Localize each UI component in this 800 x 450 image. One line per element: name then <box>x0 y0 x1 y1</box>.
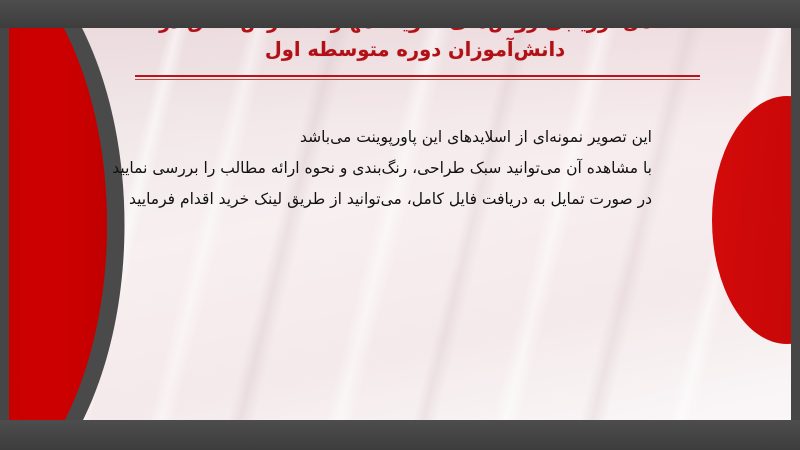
slide-frame-bottom <box>0 420 800 450</box>
slide-body-line-3: در صورت تمایل به دریافت فایل کامل، می‌تو… <box>92 184 652 215</box>
slide-body-text: این تصویر نمونه‌ای از اسلایدهای این پاور… <box>92 122 652 215</box>
slide-body-line-2: با مشاهده آن می‌توانید سبک طراحی، رنگ‌بن… <box>92 153 652 184</box>
title-underline-primary <box>135 75 700 77</box>
slide-frame-top <box>0 0 800 28</box>
slide-title-line-2: دانش‌آموزان دوره متوسطه اول <box>120 36 710 64</box>
slide-frame-left <box>0 0 9 450</box>
presentation-slide: کامل ارزیابی روش‌های تقویت مهارت نگارش خ… <box>0 0 800 450</box>
slide-title-underline <box>135 75 700 80</box>
title-underline-secondary <box>135 79 700 80</box>
slide-frame-right <box>791 0 800 450</box>
slide-body-line-1: این تصویر نمونه‌ای از اسلایدهای این پاور… <box>92 122 652 153</box>
red-curved-left-shape <box>0 0 184 450</box>
